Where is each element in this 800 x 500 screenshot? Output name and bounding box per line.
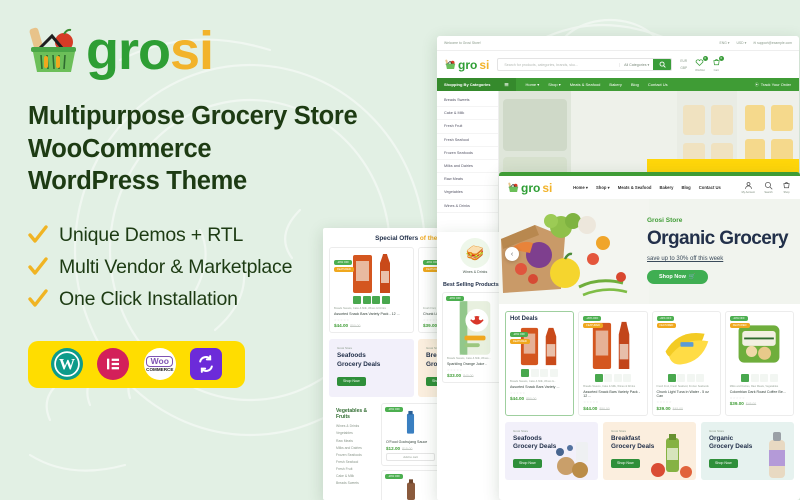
compatibility-badge-bar: W Woo COMMERCE — [28, 341, 245, 388]
hot-deals-row: Hot Deals -20% OFF FEATURED Breads Sweet… — [499, 304, 800, 416]
product-categories: Milks and Dairies, Raw Meats, Vegetables — [730, 385, 789, 388]
nav-item-bakery[interactable]: Bakery — [609, 82, 621, 87]
featured-label: FEATURED — [510, 339, 530, 344]
promo-left-panel: grosi Multipurpose Grocery Store WooComm… — [28, 24, 428, 388]
sidebar-item-cake-milk[interactable]: Cake & Milk — [437, 107, 498, 120]
product-rating: ☆☆☆☆☆ — [583, 400, 642, 404]
feature-item: One Click Installation — [28, 288, 428, 311]
shop-now-button[interactable]: Shop Now — [709, 459, 738, 468]
promo-banner-row: Grosi Store SeafoodsGrocery Deals Shop N… — [499, 416, 800, 486]
product-image — [386, 408, 435, 438]
sidebar-item-wines-drinks[interactable]: Wines & Drinks — [437, 200, 498, 213]
user-icon-label: My Account — [742, 191, 755, 194]
user-icon[interactable]: My Account — [742, 181, 755, 194]
wishlist-button[interactable]: 0 Wishlist — [695, 58, 705, 72]
shop-categories-button[interactable]: Shopping By Categories — [437, 78, 516, 91]
organic-header: grosi Home ▾ Shop ▾ Meats & Seafood Bake… — [499, 176, 800, 199]
woo-label: Woo — [146, 356, 173, 367]
hero-shop-now-button[interactable]: Shop Now 🛒 — [647, 270, 708, 284]
welcome-text: Welcome to Grosi Store! — [444, 41, 481, 45]
nav-item-blog[interactable]: Blog — [631, 82, 639, 87]
shop-now-button[interactable]: Shop Now — [513, 459, 542, 468]
shop-now-button[interactable]: Shop Now — [611, 459, 640, 468]
svg-text:W: W — [58, 356, 74, 374]
grocery-basket-icon — [508, 182, 519, 193]
product-labels: -20% OFF FEATURED — [583, 316, 603, 329]
search-input[interactable]: Search for products, categories, brands,… — [498, 63, 619, 67]
brand-logo: grosi — [28, 24, 428, 78]
mock-topbar: Welcome to Grosi Store! ENG ▾ USD ▾ ✉ su… — [437, 36, 799, 51]
organic-hero: ‹ Grosi Store Organic Grocery save up to… — [499, 199, 800, 304]
product-categories: Fresh Fruit, Fresh Seafood, Frozen Seafo… — [657, 385, 716, 388]
product-labels: -20% OFF FEATURED — [657, 316, 677, 329]
cat-wines-drinks[interactable]: Wines & Drinks — [336, 423, 370, 430]
sidebar-item-milks-dairies[interactable]: Milks and Dairies — [437, 160, 498, 173]
feature-label: One Click Installation — [59, 288, 238, 311]
hot-deals-card[interactable]: Hot Deals -20% OFF FEATURED Breads Sweet… — [505, 311, 574, 416]
wishlist-label: Wishlist — [695, 68, 705, 72]
product-rating: ☆☆☆☆☆ — [730, 396, 789, 400]
product-name[interactable]: Colombian Dark Roast Coffee Be... — [730, 390, 789, 394]
featured-label: FEATURED — [730, 323, 750, 328]
language-selector[interactable]: ENG ▾ — [719, 41, 729, 45]
cat-raw-meats[interactable]: Raw Meats — [336, 438, 370, 445]
discount-label: -20% OFF — [446, 296, 464, 301]
search-bar[interactable]: Search for products, categories, brands,… — [497, 58, 672, 71]
sidebar-item-raw-meats[interactable]: Raw Meats — [437, 173, 498, 186]
cat-fresh-seafood[interactable]: Fresh Seafood — [336, 459, 370, 466]
cat-fresh-fruit[interactable]: Fresh Fruit — [336, 466, 370, 473]
product-name[interactable]: Assorted Snack Bars Variety ... — [510, 385, 569, 389]
discount-label: -20% OFF — [385, 474, 403, 479]
menu-item-contact-us[interactable]: Contact Us — [699, 185, 721, 190]
featured-label: FEATURED — [657, 323, 677, 328]
mock-logo-green: gro — [458, 58, 477, 72]
product-card[interactable]: -20% OFF Margherita Pizza - Frozen $12.0… — [381, 470, 440, 500]
promo-banner-breakfast[interactable]: Grosi Store BreakfastGrocery Deals Shop … — [603, 422, 696, 480]
support-email[interactable]: ✉ support@example.com — [753, 41, 792, 45]
sandwich-icon[interactable]: 🥪 — [460, 238, 490, 268]
product-categories: Breads Sweets, Cake & Milk, Wines &... — [510, 380, 569, 383]
hero-eyebrow: Grosi Store — [647, 217, 788, 224]
nav-item-shop[interactable]: Shop ▾ — [548, 82, 560, 87]
product-labels: -20% OFF FEATURED — [510, 332, 530, 345]
product-price: $33.00$40.00 — [447, 373, 503, 378]
wordpress-icon: W — [51, 348, 83, 380]
hero-vegetables-image — [499, 199, 649, 304]
checkmark-icon — [28, 289, 48, 309]
organic-logo[interactable]: grosi — [508, 181, 552, 195]
feature-item: Unique Demos + RTL — [28, 224, 428, 247]
product-categories: Breads Sweets, Cake & Milk, Wines & Drin… — [583, 385, 642, 388]
product-swatches — [583, 374, 642, 382]
section-category-list: Wines & Drinks Vegetables Raw Meats Milk… — [329, 423, 377, 487]
headline-line-3: WordPress Theme — [28, 165, 428, 198]
product-rating: ☆☆☆☆☆ — [657, 400, 716, 404]
product-price: $39.00$45.00 — [657, 406, 716, 411]
currency-selector[interactable]: USD ▾ — [736, 41, 746, 45]
product-image — [447, 297, 503, 357]
organic-logo-green: gro — [521, 181, 540, 195]
sidebar-item-frozen-seafoods[interactable]: Frozen Seafoods — [437, 147, 498, 160]
nav-item-meats-seafood[interactable]: Meats & Seafood — [570, 82, 601, 87]
product-name[interactable]: O'Food Gochujang Sauce — [386, 440, 435, 444]
organic-logo-amber: si — [542, 181, 552, 195]
organic-menu: Home ▾ Shop ▾ Meats & Seafood Bakery Blo… — [573, 185, 721, 190]
discount-label: -20% OFF — [657, 316, 675, 321]
search-icon[interactable] — [653, 59, 671, 70]
section-title: Vegetables & Fruits — [329, 403, 377, 423]
mock-logo[interactable]: grosi — [445, 58, 489, 72]
logo-green-text: gro — [86, 21, 170, 81]
hero-text-block: Grosi Store Organic Grocery save up to 3… — [647, 217, 788, 284]
discount-label: -20% OFF — [385, 407, 403, 412]
cat-breads-sweets[interactable]: Breads Sweets — [336, 480, 370, 487]
checkmark-icon — [28, 225, 48, 245]
featured-label: FEATURED — [583, 323, 603, 328]
hot-deals-title: Hot Deals — [510, 316, 569, 322]
elementor-icon — [97, 348, 129, 380]
cart-count: 0 — [719, 56, 724, 61]
cart-label: Cart — [712, 68, 721, 72]
product-price: $12.00$15.00 — [386, 446, 435, 451]
product-swatches — [730, 374, 789, 382]
menu-item-shop[interactable]: Shop ▾ — [596, 185, 610, 190]
cart-button[interactable]: 0 Cart — [712, 58, 721, 72]
product-categories: Breads Sweets, Cake & Milk, Wines... — [447, 357, 503, 360]
woocommerce-icon: Woo COMMERCE — [144, 348, 176, 380]
product-name[interactable]: Chunk Light Tuna in Water - 5 oz Can — [657, 390, 716, 399]
logo-amber-text: si — [170, 21, 213, 81]
product-labels: -20% OFF FEATURED — [730, 316, 750, 329]
search-icon-label: Search — [764, 191, 773, 194]
product-card[interactable]: -20% OFF FEATURED Fresh Fruit, Fresh Sea… — [652, 311, 721, 416]
vegetables-fruits-sidebar: Vegetables & Fruits Wines & Drinks Veget… — [329, 403, 377, 500]
carousel-prev-button[interactable]: ‹ — [505, 247, 519, 261]
product-name[interactable]: Assorted Snack Bars Variety Pack - 12 ..… — [583, 390, 642, 399]
commerce-label: COMMERCE — [146, 368, 173, 373]
banner-store: Grosi Store — [513, 429, 590, 433]
product-swatches — [657, 374, 716, 382]
mock-logo-amber: si — [479, 58, 489, 72]
product-card[interactable]: -20% OFF FEATURED Breads Sweets, Cake & … — [578, 311, 647, 416]
cat-vegetables[interactable]: Vegetables — [336, 430, 370, 437]
product-name[interactable]: Sparkling Orange Juice - — [447, 362, 503, 366]
product-rating: ☆☆☆☆☆ — [447, 368, 503, 372]
currency-meta: EUR GBP — [680, 58, 687, 70]
cat-frozen-seafoods[interactable]: Frozen Seafoods — [336, 452, 370, 459]
promo-banner-seafoods[interactable]: Grosi Store SeafoodsGrocery Deals Shop N… — [505, 422, 598, 480]
add-to-cart-button[interactable]: Add to cart — [386, 453, 435, 461]
menu-item-blog[interactable]: Blog — [681, 185, 690, 190]
cart-icon[interactable]: Shop — [782, 181, 791, 194]
discount-label: -20% OFF — [583, 316, 601, 321]
track-order-link[interactable]: ⦿ Track Your Order — [755, 82, 791, 88]
header-icon-group: 0 Wishlist 0 Cart — [695, 58, 721, 72]
wishlist-count: 0 — [703, 56, 708, 61]
organic-icon-group: My Account Search Shop — [742, 181, 791, 194]
feature-list: Unique Demos + RTL Multi Vendor & Market… — [28, 224, 428, 311]
menu-item-bakery[interactable]: Bakery — [659, 185, 673, 190]
nav-item-contact-us[interactable]: Contact Us — [648, 82, 668, 87]
checkmark-icon — [28, 257, 48, 277]
discount-label: -20% OFF — [730, 316, 748, 321]
menu-item-meats-seafood[interactable]: Meats & Seafood — [618, 185, 652, 190]
product-price: $44.00$50.00 — [510, 396, 569, 401]
promo-banner-stage: grosi Multipurpose Grocery Store WooComm… — [0, 0, 800, 500]
feature-label: Unique Demos + RTL — [59, 224, 243, 247]
logo-wordmark: grosi — [86, 24, 213, 78]
grocery-basket-icon — [28, 26, 80, 76]
product-price: $39.00$45.00 — [730, 401, 789, 406]
banner-store: Grosi Store — [611, 429, 688, 433]
sidebar-item-fresh-seafood[interactable]: Fresh Seafood — [437, 134, 498, 147]
product-card[interactable]: -20% OFF FEATURED Milks and Dairies, Raw… — [725, 311, 794, 416]
headline-line-1: Multipurpose Grocery Store — [28, 100, 428, 133]
cart-icon-label: Shop — [782, 191, 791, 194]
feature-item: Multi Vendor & Marketplace — [28, 256, 428, 279]
nav-item-home[interactable]: Home ▾ — [525, 82, 539, 87]
product-swatches — [510, 369, 569, 377]
cat-cake-milk[interactable]: Cake & Milk — [336, 473, 370, 480]
feature-label: Multi Vendor & Marketplace — [59, 256, 292, 279]
mock-header: grosi Search for products, categories, b… — [437, 51, 799, 78]
page-title: Multipurpose Grocery Store WooCommerce W… — [28, 100, 428, 198]
hero-title: Organic Grocery — [647, 228, 788, 250]
product-price: $44.00$50.00 — [583, 406, 642, 411]
sidebar-item-breads-sweets[interactable]: Breads Sweets — [437, 94, 498, 107]
search-icon[interactable]: Search — [764, 181, 773, 194]
cat-milks-dairies[interactable]: Milks and Dairies — [336, 445, 370, 452]
headline-line-2: WooCommerce — [28, 133, 428, 166]
discount-label: -20% OFF — [510, 332, 528, 337]
sidebar-item-vegetables[interactable]: Vegetables — [437, 186, 498, 199]
rtl-ready-icon — [190, 348, 222, 380]
product-rating: ☆☆☆☆☆ — [510, 391, 569, 395]
grocery-basket-icon — [445, 59, 456, 70]
product-card[interactable]: -20% OFF O'Food Gochujang Sauce $12.00$1… — [381, 403, 440, 465]
organic-grocery-mockup: grosi Home ▾ Shop ▾ Meats & Seafood Bake… — [499, 172, 800, 500]
sidebar-item-fresh-fruit[interactable]: Fresh Fruit — [437, 120, 498, 133]
menu-item-home[interactable]: Home ▾ — [573, 185, 588, 190]
promo-banner-organic[interactable]: Grosi Store OrganicGrocery Deals Shop No… — [701, 422, 794, 480]
mock-navbar: Shopping By Categories Home ▾ Shop ▾ Mea… — [437, 78, 799, 91]
category-dropdown[interactable]: All Categories ▾ — [619, 63, 653, 67]
